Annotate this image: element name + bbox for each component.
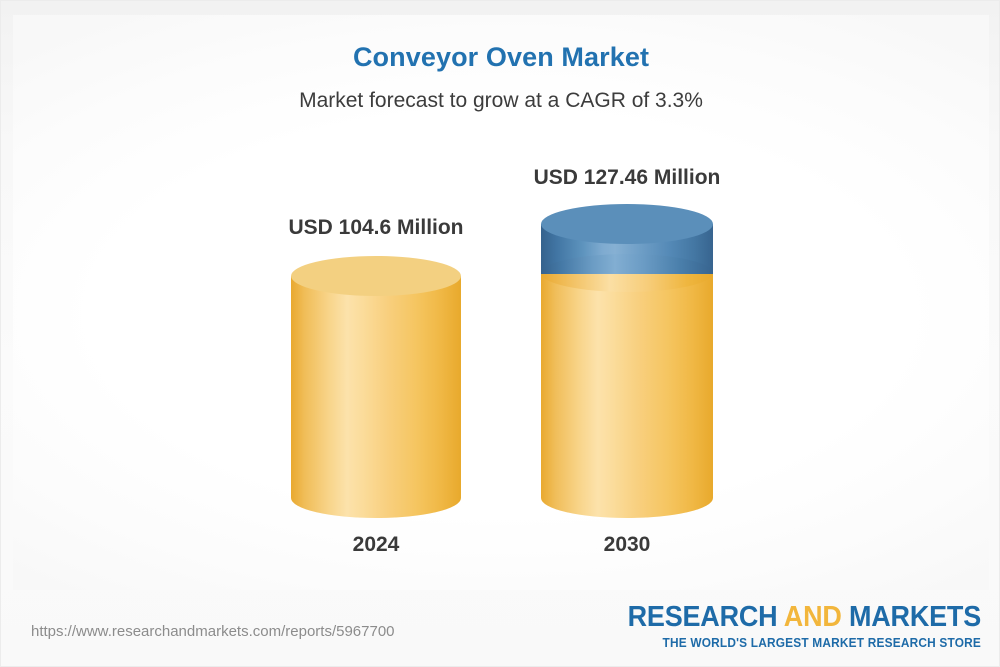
axis-label-2030: 2030 (541, 533, 713, 557)
logo-word-markets: MARKETS (849, 601, 981, 633)
bar-2030-value-label: USD 127.46 Million (507, 166, 747, 190)
chart-canvas: Conveyor Oven Market Market forecast to … (0, 0, 1000, 667)
logo-tagline: THE WORLD'S LARGEST MARKET RESEARCH STOR… (620, 636, 981, 650)
bar-2024 (291, 256, 461, 506)
logo-wordmark: RESEARCH AND MARKETS (628, 603, 981, 633)
bar-2024-top-cap (291, 256, 461, 296)
bar-2024-value-label: USD 104.6 Million (276, 216, 476, 240)
bar-2024-body (291, 276, 461, 498)
bar-2030-top-cap (541, 204, 713, 244)
chart-subtitle: Market forecast to grow at a CAGR of 3.3… (1, 89, 1000, 113)
research-and-markets-logo: RESEARCH AND MARKETS THE WORLD'S LARGEST… (601, 603, 981, 650)
report-url[interactable]: https://www.researchandmarkets.com/repor… (31, 623, 395, 640)
bar-2030 (541, 204, 713, 506)
page-title: Conveyor Oven Market (1, 42, 1000, 73)
axis-label-2024: 2024 (291, 533, 461, 557)
bar-2030-base-segment (541, 273, 713, 498)
logo-word-research: RESEARCH (628, 601, 778, 633)
logo-word-and: AND (784, 601, 842, 633)
